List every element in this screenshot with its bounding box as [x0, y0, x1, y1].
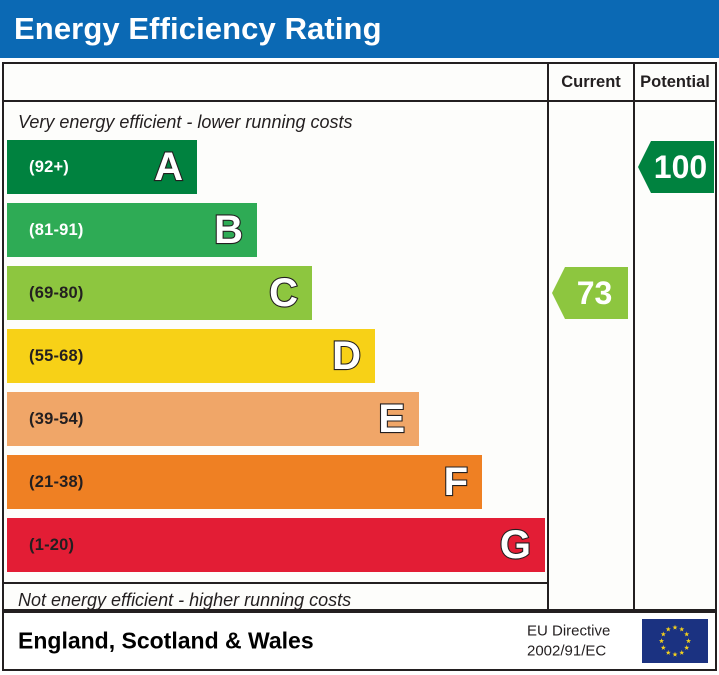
energy-efficiency-rating-chart: Energy Efficiency Rating Current Potenti…: [0, 0, 719, 675]
rating-bands: (92+)A(81-91)B(69-80)C(55-68)D(39-54)E(2…: [4, 140, 547, 582]
band-range-label: (55-68): [29, 347, 84, 366]
rating-band-g: (1-20)G: [7, 518, 545, 572]
rating-band-b: (81-91)B: [7, 203, 257, 257]
column-header-current: Current: [547, 64, 633, 100]
page-title: Energy Efficiency Rating: [14, 11, 382, 47]
band-letter-a: A: [154, 147, 183, 187]
rating-band-a: (92+)A: [7, 140, 197, 194]
caption-inefficient: Not energy efficient - higher running co…: [18, 590, 518, 611]
rating-band-c: (69-80)C: [7, 266, 312, 320]
eu-flag-svg: [642, 619, 708, 663]
band-range-label: (21-38): [29, 473, 84, 492]
band-letter-g: G: [500, 525, 531, 565]
footer-eu-directive: EU Directive 2002/91/EC: [527, 622, 610, 661]
rating-band-e: (39-54)E: [7, 392, 419, 446]
column-header-row: Current Potential: [4, 64, 715, 102]
rating-band-f: (21-38)F: [7, 455, 482, 509]
band-range-label: (39-54): [29, 410, 84, 429]
chart-title-bar: Energy Efficiency Rating: [0, 0, 719, 58]
rating-band-d: (55-68)D: [7, 329, 375, 383]
band-range-label: (1-20): [29, 536, 74, 555]
band-range-label: (81-91): [29, 221, 84, 240]
band-letter-c: C: [269, 273, 298, 313]
column-header-potential: Potential: [633, 64, 715, 100]
footer-directive-line1: EU Directive: [527, 622, 610, 642]
band-letter-f: F: [444, 462, 468, 502]
current-rating-value: 73: [568, 277, 613, 309]
column-divider-potential: [633, 102, 635, 609]
footer-directive-line2: 2002/91/EC: [527, 641, 610, 661]
eu-flag-icon: [642, 619, 708, 663]
band-letter-b: B: [214, 210, 243, 250]
caption-divider: [4, 582, 547, 584]
column-divider-current: [547, 102, 549, 609]
current-rating-marker: 73: [552, 267, 628, 319]
chart-footer: England, Scotland & Wales EU Directive 2…: [2, 611, 717, 671]
footer-region-label: England, Scotland & Wales: [18, 628, 314, 655]
band-letter-e: E: [378, 399, 405, 439]
potential-rating-value: 100: [645, 151, 707, 183]
chart-frame: Current Potential Very energy efficient …: [2, 62, 717, 611]
band-range-label: (69-80): [29, 284, 84, 303]
potential-rating-marker: 100: [638, 141, 714, 193]
band-letter-d: D: [332, 336, 361, 376]
caption-efficient: Very energy efficient - lower running co…: [18, 112, 518, 133]
band-range-label: (92+): [29, 158, 69, 177]
